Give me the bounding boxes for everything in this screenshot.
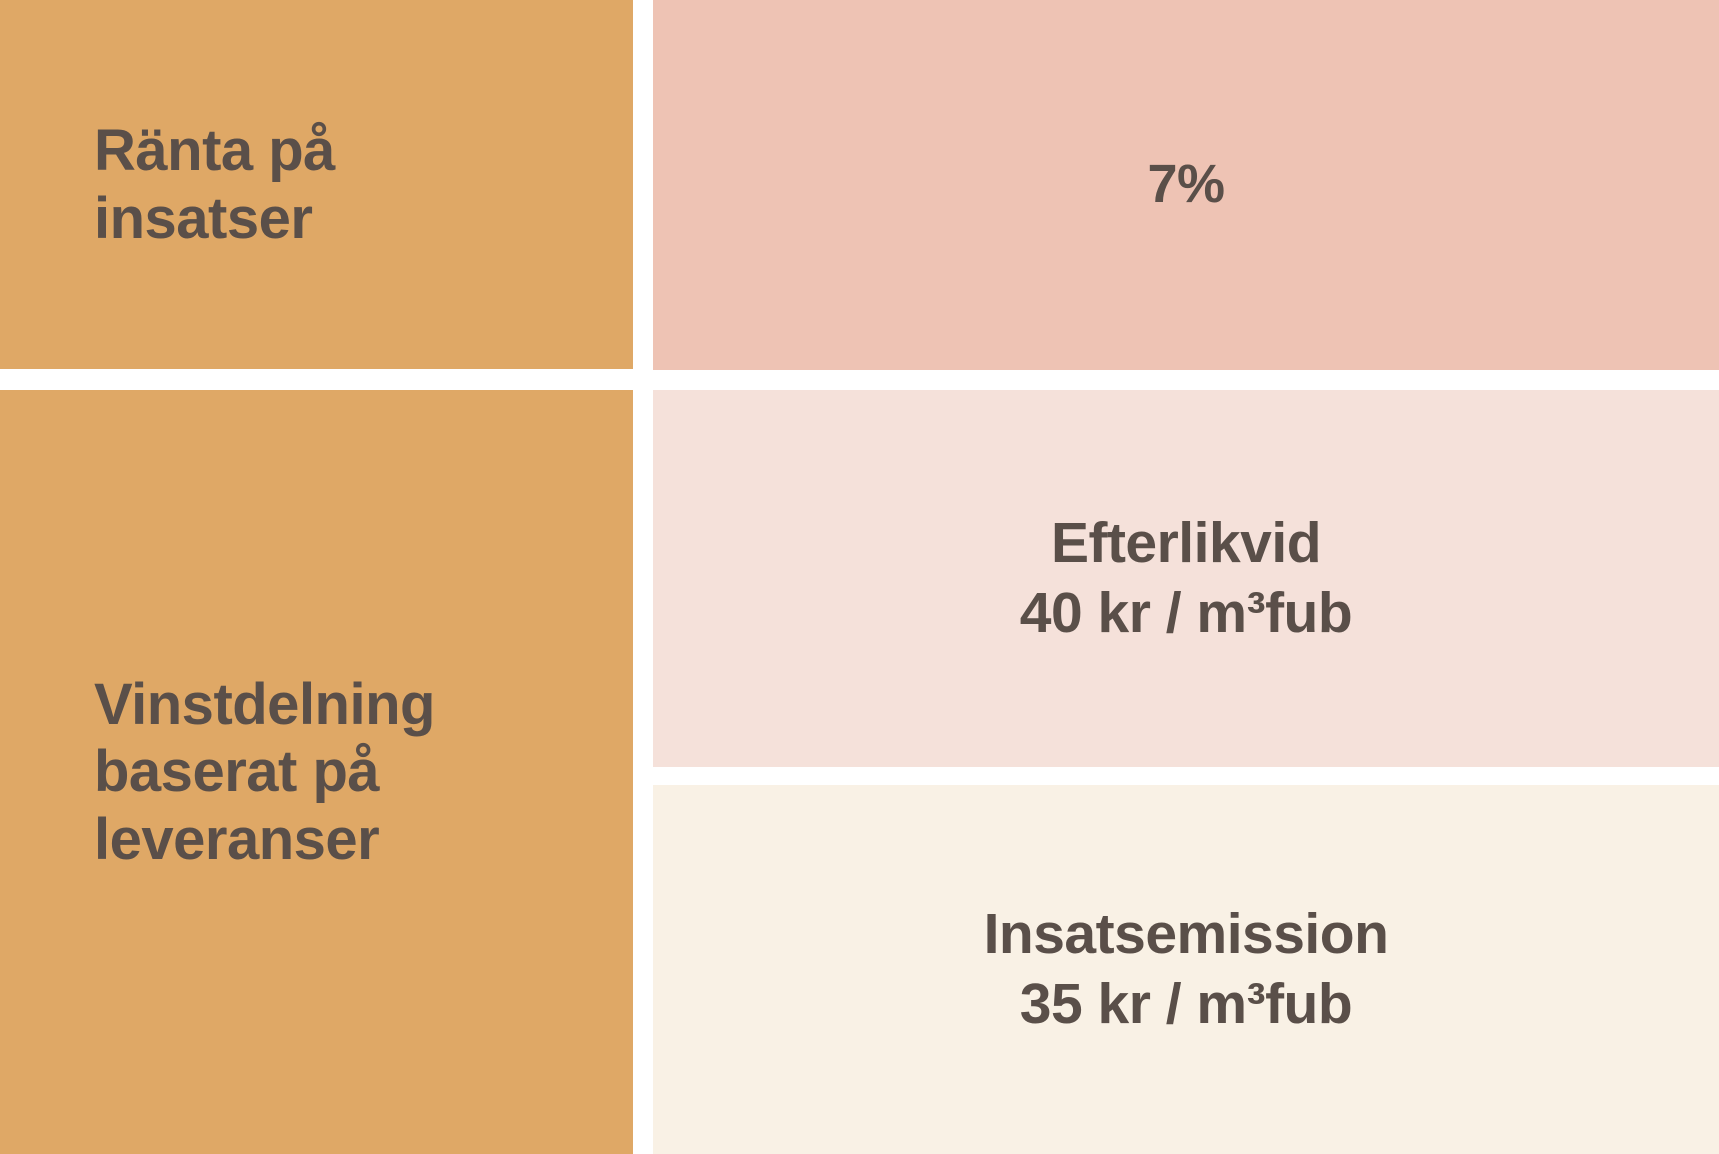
label-block-ranta-pa-insatser: Ränta på insatser xyxy=(0,0,633,369)
diagram-canvas: Ränta på insatser 7% Vinstdelning basera… xyxy=(0,0,1719,1154)
value-text-insatsemission: Insatsemission 35 kr / m³fub xyxy=(984,900,1389,1039)
label-text-ranta-pa-insatser: Ränta på insatser xyxy=(94,117,335,252)
value-block-rantesats: 7% xyxy=(653,0,1719,370)
value-block-insatsemission: Insatsemission 35 kr / m³fub xyxy=(653,785,1719,1154)
value-text-rantesats: 7% xyxy=(1147,154,1224,215)
label-text-vinstdelning-baserat-pa-leveranser: Vinstdelning baserat på leveranser xyxy=(94,671,435,873)
label-block-vinstdelning-baserat-pa-leveranser: Vinstdelning baserat på leveranser xyxy=(0,390,633,1154)
value-text-efterlikvid: Efterlikvid 40 kr / m³fub xyxy=(1020,509,1352,648)
value-block-efterlikvid: Efterlikvid 40 kr / m³fub xyxy=(653,390,1719,767)
